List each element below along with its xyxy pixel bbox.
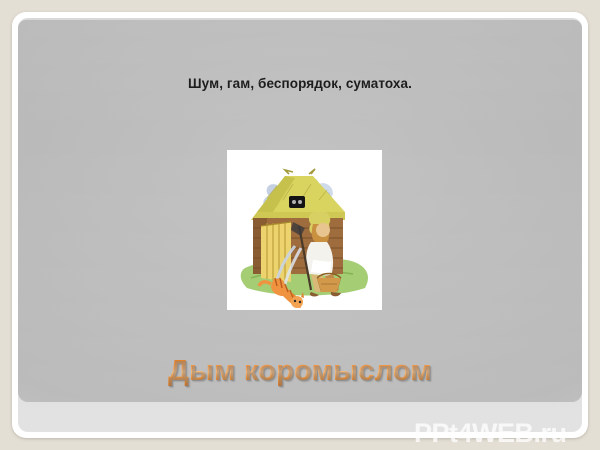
illustration-frame <box>227 150 382 310</box>
slide-subtitle: Шум, гам, беспорядок, суматоха. <box>0 76 600 91</box>
site-watermark: PPt4WEB.ru <box>414 418 600 449</box>
hut-illustration-icon <box>227 150 382 310</box>
wooden-door <box>261 222 291 282</box>
attic-window <box>289 196 305 208</box>
slide-root: Шум, гам, беспорядок, суматоха. <box>0 0 600 450</box>
slide-title: Дым коромыслом <box>0 354 600 388</box>
